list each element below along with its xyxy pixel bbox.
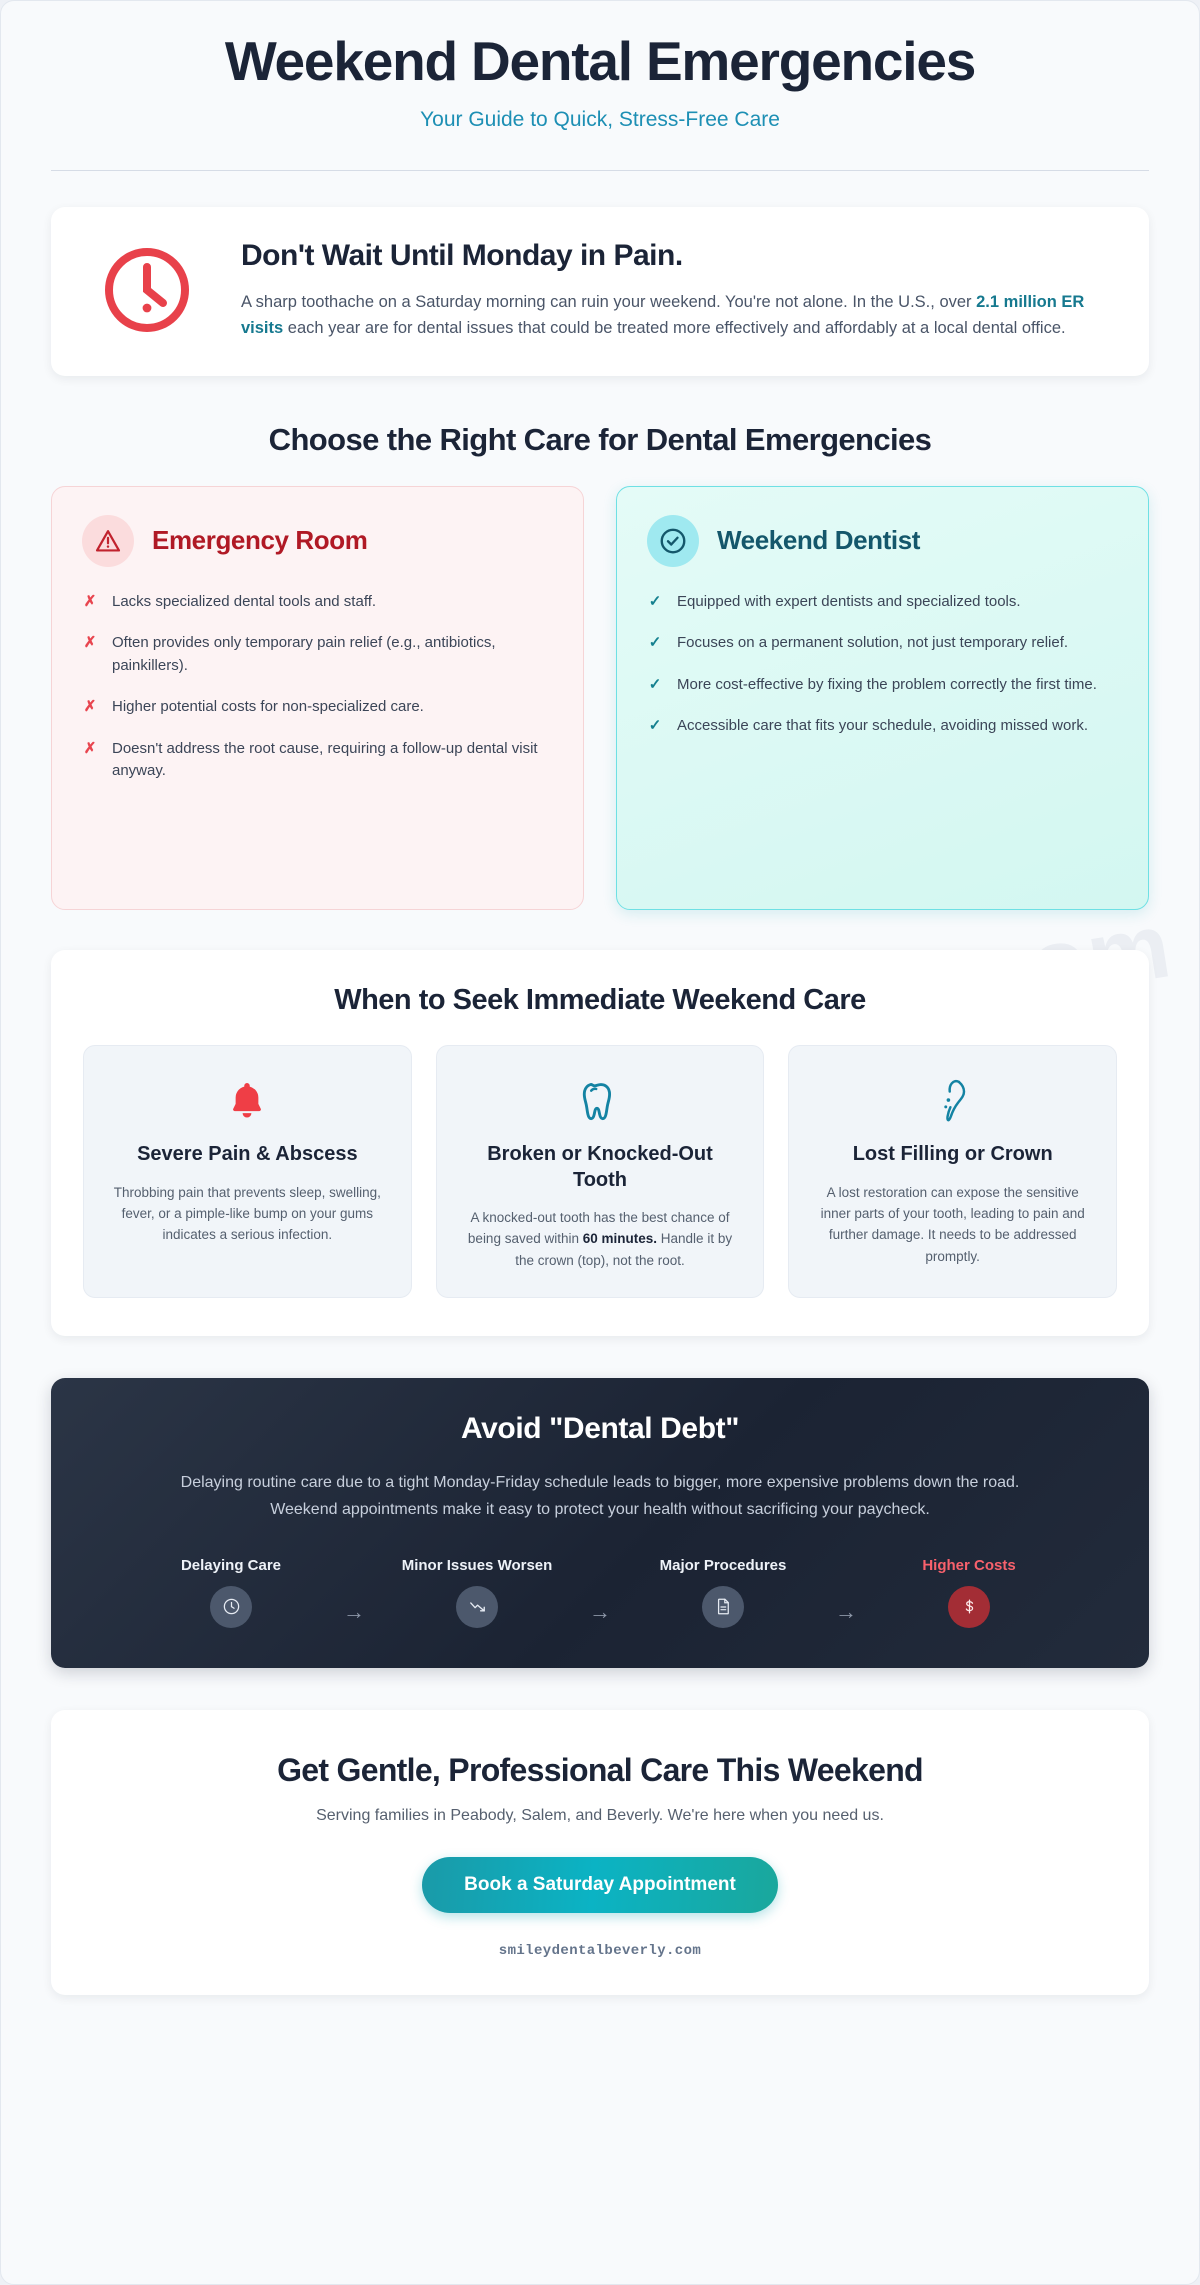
bell-icon [106, 1074, 389, 1128]
compare-grid: Emergency Room ✗Lacks specialized dental… [51, 486, 1149, 910]
list-item-text: Equipped with expert dentists and specia… [677, 591, 1021, 614]
dental-debt-panel: Avoid "Dental Debt" Delaying routine car… [51, 1378, 1149, 1668]
flow-step-higher-costs: Higher Costs [879, 1557, 1059, 1628]
flow-step-label: Delaying Care [181, 1557, 281, 1574]
flow-arrow: → [321, 1557, 387, 1625]
list-item-text: Accessible care that fits your schedule,… [677, 715, 1088, 738]
page-content: Weekend Dental Emergencies Your Guide to… [51, 1, 1149, 1995]
list-item: ✗Lacks specialized dental tools and staf… [82, 591, 553, 614]
seek-card-body: A knocked-out tooth has the best chance … [459, 1207, 742, 1271]
hero-text-before: A sharp toothache on a Saturday morning … [241, 293, 976, 311]
emergency-room-title: Emergency Room [152, 525, 367, 556]
weekend-dentist-title: Weekend Dentist [717, 525, 920, 556]
cross-icon: ✗ [82, 591, 98, 614]
page-subtitle: Your Guide to Quick, Stress-Free Care [51, 108, 1149, 132]
list-item: ✓Equipped with expert dentists and speci… [647, 591, 1118, 614]
clock-icon [210, 1586, 252, 1628]
seek-body-bold: 60 minutes. [583, 1231, 657, 1246]
flow-arrow: → [567, 1557, 633, 1625]
compare-section-title: Choose the Right Care for Dental Emergen… [51, 422, 1149, 458]
hero-heading: Don't Wait Until Monday in Pain. [241, 239, 1113, 273]
check-icon: ✓ [647, 715, 663, 738]
emergency-room-list: ✗Lacks specialized dental tools and staf… [82, 591, 553, 783]
hero-card: Don't Wait Until Monday in Pain. A sharp… [51, 207, 1149, 376]
list-item: ✗Doesn't address the root cause, requiri… [82, 738, 553, 783]
hero-text-after: each year are for dental issues that cou… [283, 319, 1065, 337]
header-divider [51, 170, 1149, 171]
check-icon: ✓ [647, 674, 663, 697]
hero-body: Don't Wait Until Monday in Pain. A sharp… [241, 239, 1113, 342]
cross-icon: ✗ [82, 738, 98, 761]
document-icon [702, 1586, 744, 1628]
dental-debt-title: Avoid "Dental Debt" [105, 1412, 1095, 1446]
list-item-text: More cost-effective by fixing the proble… [677, 674, 1097, 697]
list-item: ✗Higher potential costs for non-speciali… [82, 696, 553, 719]
trending-down-icon [456, 1586, 498, 1628]
seek-card-body: A lost restoration can expose the sensit… [811, 1182, 1094, 1267]
flow-step-label: Minor Issues Worsen [402, 1557, 553, 1574]
seek-card-severe-pain: Severe Pain & Abscess Throbbing pain tha… [83, 1045, 412, 1298]
cross-icon: ✗ [82, 696, 98, 719]
list-item: ✓Focuses on a permanent solution, not ju… [647, 632, 1118, 655]
flow-step-major-procedures: Major Procedures [633, 1557, 813, 1628]
seek-card-heading: Severe Pain & Abscess [106, 1142, 389, 1168]
check-icon: ✓ [647, 632, 663, 655]
seek-care-title: When to Seek Immediate Weekend Care [83, 984, 1117, 1017]
cta-title: Get Gentle, Professional Care This Weeke… [81, 1752, 1119, 1789]
flow-arrow: → [813, 1557, 879, 1625]
warning-triangle-icon [82, 515, 134, 567]
seek-card-heading: Lost Filling or Crown [811, 1142, 1094, 1168]
weekend-dentist-card: Weekend Dentist ✓Equipped with expert de… [616, 486, 1149, 910]
weekend-dentist-header: Weekend Dentist [647, 515, 1118, 567]
list-item-text: Lacks specialized dental tools and staff… [112, 591, 376, 614]
seek-card-broken-tooth: Broken or Knocked-Out Tooth A knocked-ou… [436, 1045, 765, 1298]
seek-body-before: A lost restoration can expose the sensit… [821, 1185, 1085, 1264]
page-header: Weekend Dental Emergencies Your Guide to… [51, 1, 1149, 171]
list-item-text: Often provides only temporary pain relie… [112, 632, 553, 677]
flow-step-label: Higher Costs [922, 1557, 1015, 1574]
seek-care-panel: When to Seek Immediate Weekend Care Seve… [51, 950, 1149, 1336]
flow-step-label: Major Procedures [660, 1557, 787, 1574]
tooth-crown-icon [811, 1074, 1094, 1128]
seek-care-grid: Severe Pain & Abscess Throbbing pain tha… [83, 1045, 1117, 1298]
weekend-dentist-list: ✓Equipped with expert dentists and speci… [647, 591, 1118, 738]
cta-subtitle: Serving families in Peabody, Salem, and … [81, 1807, 1119, 1825]
dental-debt-text: Delaying routine care due to a tight Mon… [160, 1470, 1040, 1523]
list-item: ✗Often provides only temporary pain reli… [82, 632, 553, 677]
website-domain[interactable]: smileydentalbeverly.com [81, 1943, 1119, 1959]
check-icon: ✓ [647, 591, 663, 614]
emergency-room-card: Emergency Room ✗Lacks specialized dental… [51, 486, 584, 910]
escalation-flow: Delaying Care → Minor Issues Worsen [105, 1557, 1095, 1628]
hero-paragraph: A sharp toothache on a Saturday morning … [241, 289, 1113, 342]
list-item: ✓More cost-effective by fixing the probl… [647, 674, 1118, 697]
seek-card-heading: Broken or Knocked-Out Tooth [459, 1142, 742, 1193]
dollar-icon [948, 1586, 990, 1628]
cross-icon: ✗ [82, 632, 98, 655]
flow-step-delaying-care: Delaying Care [141, 1557, 321, 1628]
clock-icon [87, 242, 207, 338]
list-item: ✓Accessible care that fits your schedule… [647, 715, 1118, 738]
seek-body-before: Throbbing pain that prevents sleep, swel… [114, 1185, 381, 1243]
list-item-text: Focuses on a permanent solution, not jus… [677, 632, 1068, 655]
infographic-page: smileydentalbeverly.com Weekend Dental E… [0, 0, 1200, 2285]
list-item-text: Doesn't address the root cause, requirin… [112, 738, 553, 783]
emergency-room-header: Emergency Room [82, 515, 553, 567]
seek-card-body: Throbbing pain that prevents sleep, swel… [106, 1182, 389, 1246]
page-title: Weekend Dental Emergencies [51, 31, 1149, 92]
seek-card-lost-filling: Lost Filling or Crown A lost restoration… [788, 1045, 1117, 1298]
check-circle-icon [647, 515, 699, 567]
cta-panel: Get Gentle, Professional Care This Weeke… [51, 1710, 1149, 1995]
tooth-icon [459, 1074, 742, 1128]
flow-step-minor-issues: Minor Issues Worsen [387, 1557, 567, 1628]
book-appointment-button[interactable]: Book a Saturday Appointment [422, 1857, 778, 1913]
list-item-text: Higher potential costs for non-specializ… [112, 696, 424, 719]
